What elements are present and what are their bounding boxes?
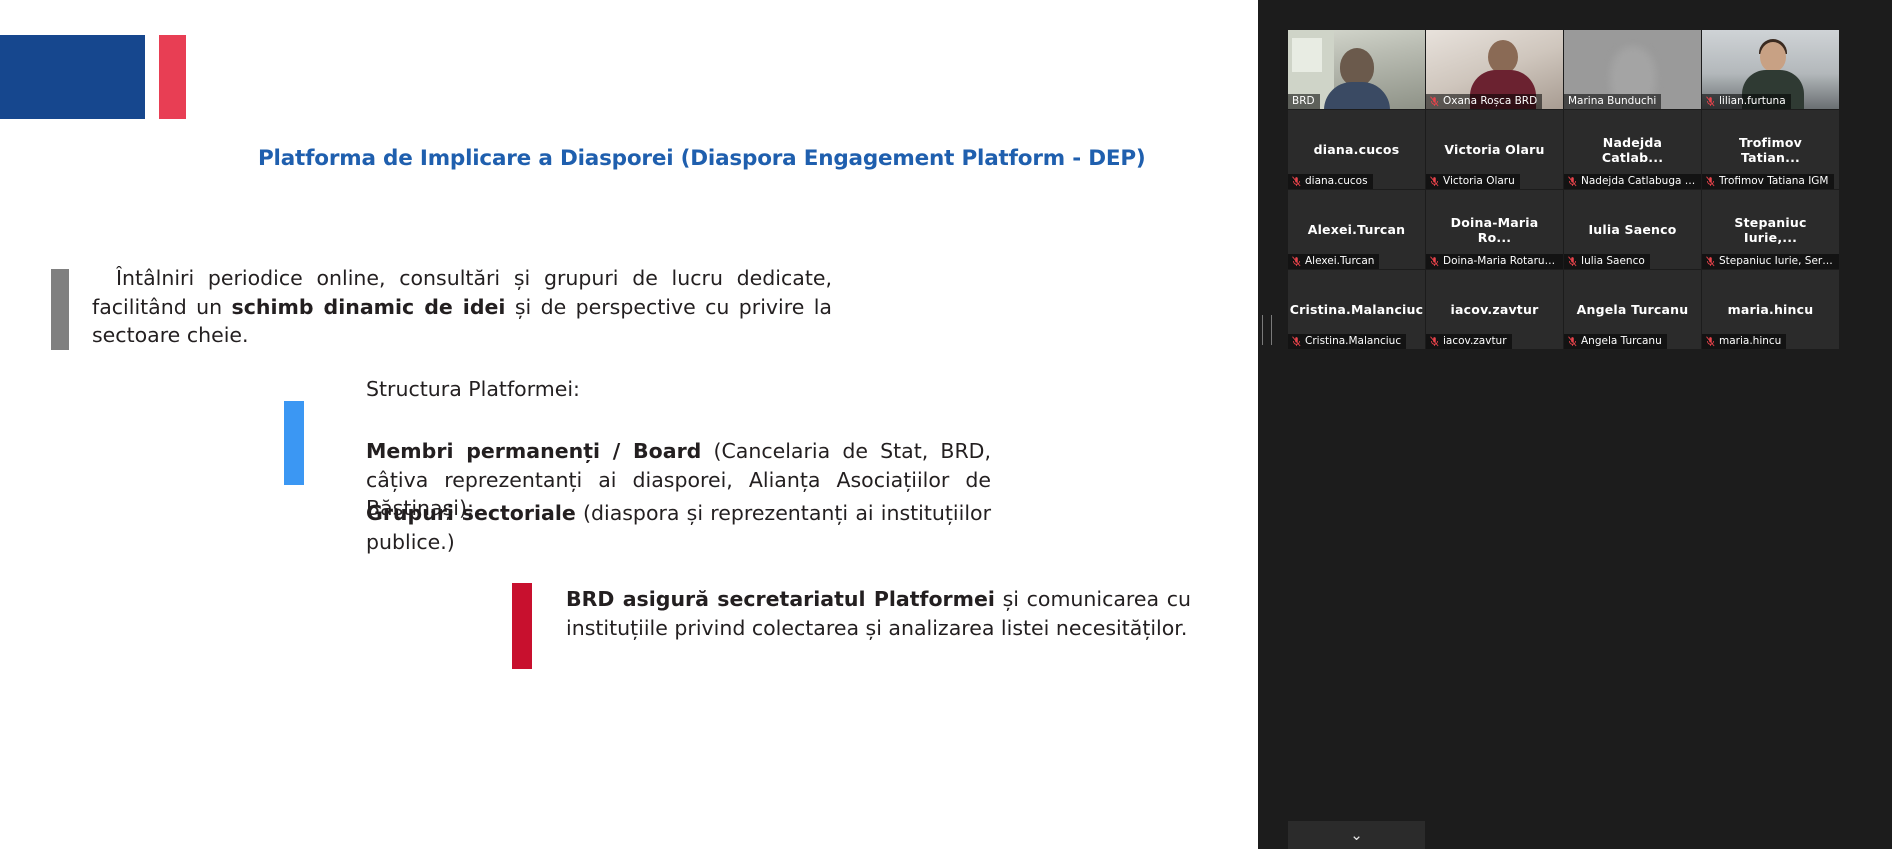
mute-icon <box>1706 336 1715 347</box>
chevron-down-icon: ⌄ <box>1350 828 1363 843</box>
participant-name-bar: Doina-Maria Rotaru, ... <box>1426 254 1563 269</box>
slide-title: Platforma de Implicare a Diasporei (Dias… <box>258 146 1158 171</box>
brd-secretariat-bold: BRD asigură secretariatul Platformei <box>566 587 995 611</box>
paragraph-meetings-bold: schimb dinamic de idei <box>232 295 506 319</box>
participant-name-label: BRD <box>1292 95 1315 107</box>
mute-icon <box>1568 256 1577 267</box>
participant-tile[interactable]: diana.cucosdiana.cucos <box>1288 110 1425 189</box>
participant-name-bar: Iulia Saenco <box>1564 254 1650 269</box>
sector-groups-bold: Grupuri sectoriale <box>366 501 576 525</box>
mute-icon <box>1292 176 1301 187</box>
participant-tile[interactable]: Iulia SaencoIulia Saenco <box>1564 190 1701 269</box>
permanent-members-bold: Membri permanenți / Board <box>366 439 701 463</box>
mute-icon <box>1568 336 1577 347</box>
mute-icon <box>1706 256 1715 267</box>
participant-tile[interactable]: BRD <box>1288 30 1425 109</box>
accent-bar-red <box>512 583 532 669</box>
participant-name-bar: Stepaniuc Iurie, Servic... <box>1702 254 1839 269</box>
participant-name-label: Iulia Saenco <box>1581 255 1645 267</box>
participant-name-label: Alexei.Turcan <box>1305 255 1374 267</box>
participant-name-label: lilian.furtuna <box>1719 95 1786 107</box>
participant-name-label: Doina-Maria Rotaru, ... <box>1443 255 1558 267</box>
participant-name-bar: Trofimov Tatiana IGM <box>1702 174 1834 189</box>
participant-name-label: Cristina.Malanciuc <box>1305 335 1401 347</box>
mute-icon <box>1430 256 1439 267</box>
mute-icon <box>1568 176 1577 187</box>
participant-tile-grid: BRDOxana Roșca BRDMarina Bunduchililian.… <box>1288 30 1892 350</box>
paragraph-meetings: Întâlniri periodice online, consultări ș… <box>92 264 832 350</box>
participant-name-label: Oxana Roșca BRD <box>1443 95 1537 107</box>
mute-icon <box>1430 176 1439 187</box>
participant-name-bar: Victoria Olaru <box>1426 174 1520 189</box>
paragraph-structure-heading: Structura Platformei: <box>366 375 991 404</box>
participant-name-label: Victoria Olaru <box>1443 175 1515 187</box>
participant-tile[interactable]: Doina-Maria Ro...Doina-Maria Rotaru, ... <box>1426 190 1563 269</box>
mute-icon <box>1292 256 1301 267</box>
participant-tile[interactable]: Victoria OlaruVictoria Olaru <box>1426 110 1563 189</box>
participant-video-panel: BRDOxana Roșca BRDMarina Bunduchililian.… <box>1258 0 1892 849</box>
participant-name-label: Angela Turcanu <box>1581 335 1662 347</box>
meeting-screen-share-window: Platforma de Implicare a Diasporei (Dias… <box>0 0 1892 849</box>
shared-slide: Platforma de Implicare a Diasporei (Dias… <box>0 0 1258 849</box>
participant-name-bar: lilian.furtuna <box>1702 94 1791 109</box>
flag-blue-block <box>0 35 145 119</box>
participant-tile[interactable]: Marina Bunduchi <box>1564 30 1701 109</box>
participant-name-bar: Cristina.Malanciuc <box>1288 334 1406 349</box>
participant-name-bar: Marina Bunduchi <box>1564 94 1661 109</box>
participant-name-label: diana.cucos <box>1305 175 1368 187</box>
participant-name-bar: iacov.zavtur <box>1426 334 1512 349</box>
accent-bar-grey <box>51 269 69 350</box>
participant-name-bar: diana.cucos <box>1288 174 1373 189</box>
participant-name-label: Marina Bunduchi <box>1568 95 1656 107</box>
participant-tile[interactable]: Oxana Roșca BRD <box>1426 30 1563 109</box>
participant-name-label: Nadejda Catlabuga - ... <box>1581 175 1696 187</box>
participant-tile[interactable]: Alexei.TurcanAlexei.Turcan <box>1288 190 1425 269</box>
participant-name-bar: Oxana Roșca BRD <box>1426 94 1542 109</box>
participant-tile[interactable]: lilian.furtuna <box>1702 30 1839 109</box>
participant-name-label: Trofimov Tatiana IGM <box>1719 175 1829 187</box>
participant-tile[interactable]: Angela TurcanuAngela Turcanu <box>1564 270 1701 349</box>
participant-tile[interactable]: iacov.zavturiacov.zavtur <box>1426 270 1563 349</box>
paragraph-sector-groups: Grupuri sectoriale (diaspora și reprezen… <box>366 499 991 556</box>
participant-tile[interactable]: Cristina.MalanciucCristina.Malanciuc <box>1288 270 1425 349</box>
mute-icon <box>1706 176 1715 187</box>
participant-name-label: maria.hincu <box>1719 335 1781 347</box>
participant-name-bar: Angela Turcanu <box>1564 334 1667 349</box>
participant-tile[interactable]: Stepaniuc Iurie,...Stepaniuc Iurie, Serv… <box>1702 190 1839 269</box>
participant-tile[interactable]: Trofimov Tatian...Trofimov Tatiana IGM <box>1702 110 1839 189</box>
participant-name-bar: BRD <box>1288 94 1320 109</box>
participant-name-bar: maria.hincu <box>1702 334 1786 349</box>
mute-icon <box>1430 96 1439 107</box>
participant-tile[interactable]: Nadejda Catlab...Nadejda Catlabuga - ... <box>1564 110 1701 189</box>
paragraph-brd-secretariat: BRD asigură secretariatul Platformei și … <box>566 585 1191 642</box>
mute-icon <box>1430 336 1439 347</box>
participant-name-label: Stepaniuc Iurie, Servic... <box>1719 255 1834 267</box>
panel-resize-handle[interactable] <box>1262 315 1272 345</box>
mute-icon <box>1292 336 1301 347</box>
scroll-down-button[interactable]: ⌄ <box>1288 821 1425 849</box>
participant-name-bar: Alexei.Turcan <box>1288 254 1379 269</box>
flag-red-block <box>159 35 186 119</box>
accent-bar-blue <box>284 401 304 485</box>
mute-icon <box>1706 96 1715 107</box>
participant-tile[interactable]: maria.hincumaria.hincu <box>1702 270 1839 349</box>
participant-name-label: iacov.zavtur <box>1443 335 1507 347</box>
participant-name-bar: Nadejda Catlabuga - ... <box>1564 174 1701 189</box>
